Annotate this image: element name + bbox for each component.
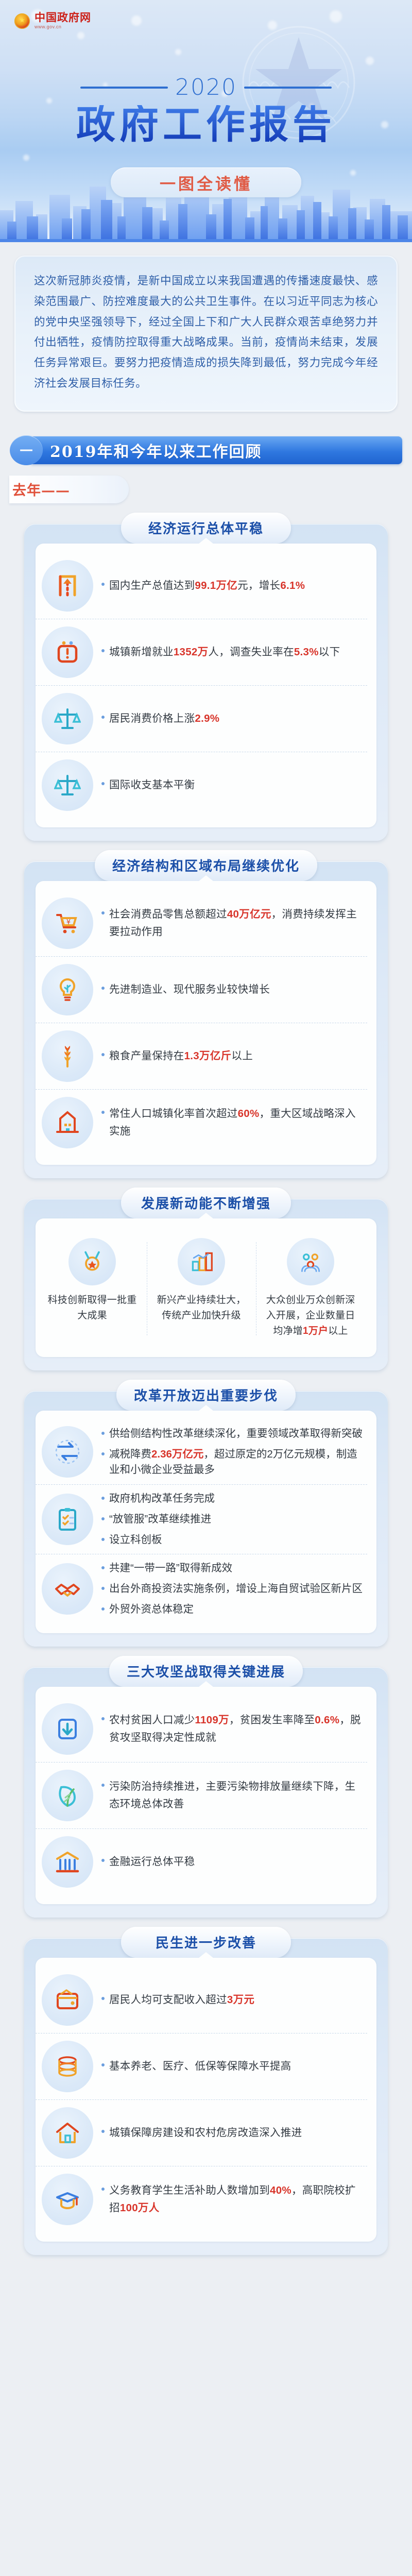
highlight-value: 1109万: [195, 1714, 229, 1726]
section-number-badge: 一: [10, 435, 43, 465]
card-row: 共建“一带一路”取得新成效 出台外商投资法实施条例，增设上海自贸试验区新片区 外…: [36, 1554, 367, 1623]
card-row-text: 共建“一带一路”取得新成效 出台外商投资法实施条例，增设上海自贸试验区新片区 外…: [101, 1561, 363, 1617]
text-fragment: 农村贫困人口减少: [109, 1714, 195, 1726]
card-row-text: 国内生产总值达到99.1万亿元，增长6.1%: [101, 577, 308, 594]
text-fragment: 以上: [328, 1326, 348, 1336]
text-fragment: 粮食产量保持在: [109, 1050, 184, 1062]
highlight-value: 100万人: [120, 2202, 160, 2214]
card-row: 国际收支基本平衡: [36, 752, 367, 818]
row-copy: 先进制造业、现代服务业较快增长: [109, 981, 270, 998]
row-copy: 供给侧结构性改革继续深化，重要领域改革取得新突破: [109, 1426, 363, 1442]
card-row-text: 先进制造业、现代服务业较快增长: [101, 981, 273, 998]
text-fragment: 义务教育学生生活补助人数增加到: [109, 2184, 270, 2196]
house-home-icon: [42, 2107, 93, 2159]
card-title-label: 经济运行总体平稳: [148, 518, 264, 537]
triad-grid: 科技创新取得一批重大成果 新兴产业持续壮大，传统产业加快升级 大众创业万众创新深…: [36, 1228, 367, 1348]
content-card: 改革开放迈出重要步伐 供给侧结构性改革继续深化，重要领域改革取得新突破 减税降费…: [24, 1391, 388, 1647]
infographic-page: 中国政府网 www.gov.cn 2020 政府工作报告 一图全读懂: [0, 0, 412, 2576]
poverty-reduction-down-icon: [42, 1703, 93, 1755]
intro-section: 这次新冠肺炎疫情，是新中国成立以来我国遭遇的传播速度最快、感染范围最广、防控难度…: [0, 242, 412, 427]
card-row-text: 常住人口城镇化率首次超过60%，重大区域战略深入实施: [101, 1105, 367, 1139]
intro-paragraph: 这次新冠肺炎疫情，是新中国成立以来我国遭遇的传播速度最快、感染范围最广、防控难度…: [34, 271, 378, 394]
text-fragment: 先进制造业、现代服务业较快增长: [109, 984, 270, 995]
national-emblem-icon: [14, 13, 30, 29]
list-item: 减税降费2.36万亿元，超过原定的2万亿元规模，制造业和小微企业受益最多: [101, 1447, 367, 1479]
text-fragment: 居民人均可支配收入超过: [109, 1994, 227, 2006]
card-row: 供给侧结构性改革继续深化，重要领域改革取得新突破 减税降费2.36万亿元，超过原…: [36, 1420, 367, 1484]
card-row: 先进制造业、现代服务业较快增长: [36, 956, 367, 1023]
education-book-icon: [42, 2174, 93, 2225]
snow-dot: [350, 170, 356, 176]
card-row: 粮食产量保持在1.3万亿斤以上: [36, 1023, 367, 1089]
balance-scale-icon: [42, 693, 93, 744]
snow-dot: [175, 49, 181, 55]
card-body: 供给侧结构性改革继续深化，重要领域改革取得新突破 减税降费2.36万亿元，超过原…: [36, 1411, 376, 1633]
content-card: 经济运行总体平稳 国内生产总值达到99.1万亿元，增长6.1% 城镇新增就业13…: [24, 524, 388, 841]
highlight-value: 1352万: [174, 646, 209, 658]
intro-card: 这次新冠肺炎疫情，是新中国成立以来我国遭遇的传播速度最快、感染范围最广、防控难度…: [14, 256, 398, 412]
section-title: 2019年和今年以来工作回顾: [50, 439, 262, 462]
highlight-value: 0.6%: [315, 1714, 339, 1726]
row-copy: 居民消费价格上涨2.9%: [109, 710, 219, 727]
coins-stack-icon: [42, 2041, 93, 2092]
text-fragment: 社会消费品零售总额超过: [109, 908, 227, 920]
text-fragment: 人，调查失业率在: [208, 646, 294, 658]
lightbulb-growth-icon: [42, 964, 93, 1015]
snow-dot: [23, 155, 29, 161]
row-copy: 社会消费品零售总额超过40万亿元，消费持续发挥主要拉动作用: [109, 906, 364, 940]
card-row: 常住人口城镇化率首次超过60%，重大区域战略深入实施: [36, 1089, 367, 1156]
bullet-dot: [101, 1452, 105, 1455]
row-copy: 外贸外资总体稳定: [109, 1602, 194, 1618]
list-item: 外贸外资总体稳定: [101, 1602, 363, 1618]
mass-entrepreneurship-icon: [287, 1238, 334, 1285]
content-card: 经济结构和区域布局继续优化 ¥ 社会消费品零售总额超过40万亿元，消费持续发挥主…: [24, 861, 388, 1178]
text-fragment: 共建“一带一路”取得新成效: [109, 1562, 232, 1574]
row-copy: 国际收支基本平衡: [109, 776, 195, 793]
text-fragment: 居民消费价格上涨: [109, 713, 195, 724]
card-row-text: 供给侧结构性改革继续深化，重要领域改革取得新突破 减税降费2.36万亿元，超过原…: [101, 1426, 367, 1478]
svg-text:¥: ¥: [66, 919, 71, 926]
card-row: ¥ 社会消费品零售总额超过40万亿元，消费持续发挥主要拉动作用: [36, 890, 367, 956]
snow-dot: [77, 32, 84, 39]
row-copy: 常住人口城镇化率首次超过60%，重大区域战略深入实施: [109, 1105, 364, 1139]
bullet-dot: [101, 911, 105, 914]
row-copy: 共建“一带一路”取得新成效: [109, 1561, 232, 1577]
content-card: 民生进一步改善 居民人均可支配收入超过3万元 基本养老、医疗、低保等保障水平提高: [24, 1938, 388, 2255]
card-title-label: 三大攻坚战取得关键进展: [127, 1662, 285, 1681]
highlight-value: 2.9%: [195, 713, 219, 724]
row-copy: 出台外商投资法实施条例，增设上海自贸试验区新片区: [109, 1581, 363, 1597]
site-logo[interactable]: 中国政府网 www.gov.cn: [14, 12, 91, 29]
card-row-text: 粮食产量保持在1.3万亿斤以上: [101, 1047, 256, 1064]
highlight-value: 1.3万亿斤: [184, 1050, 232, 1062]
wallet-income-icon: [42, 1974, 93, 2026]
city-urban-icon: [42, 1097, 93, 1148]
text-fragment: 政府机构改革任务完成: [109, 1493, 215, 1504]
site-url: www.gov.cn: [35, 25, 91, 29]
row-copy: 基本养老、医疗、低保等保障水平提高: [109, 2058, 291, 2075]
content-card: 三大攻坚战取得关键进展 农村贫困人口减少1109万，贫困发生率降至0.6%，脱贫…: [24, 1667, 388, 1918]
triad-column: 新兴产业持续壮大，传统产业加快升级: [147, 1238, 256, 1340]
content-card: 发展新动能不断增强 科技创新取得一批重大成果 新兴产业持续壮大，传统产业加快升级…: [24, 1199, 388, 1370]
list-item: 供给侧结构性改革继续深化，重要领域改革取得新突破: [101, 1426, 367, 1442]
card-row: 义务教育学生生活补助人数增加到40%，高职院校扩招100万人: [36, 2166, 367, 2232]
card-row-text: 义务教育学生生活补助人数增加到40%，高职院校扩招100万人: [101, 2182, 367, 2216]
hero-subtitle: 一图全读懂: [160, 171, 252, 194]
list-item: 设立科创板: [101, 1532, 215, 1548]
triad-text: 大众创业万众创新深入开展，企业数量日均净增1万户以上: [262, 1293, 359, 1340]
text-fragment: 国内生产总值达到: [109, 580, 195, 591]
row-copy: “放管服”改革继续推进: [109, 1512, 211, 1528]
highlight-value: 2.36万亿元: [151, 1448, 203, 1460]
text-fragment: 减税降费: [109, 1448, 151, 1460]
bullet-dot: [101, 649, 105, 652]
highlight-value: 5.3%: [294, 646, 319, 658]
card-row: 污染防治持续推进，主要污染物排放量继续下降，生态环境总体改善: [36, 1762, 367, 1828]
balance-scale-icon: [42, 759, 93, 811]
bullet-dot: [101, 1717, 105, 1720]
text-fragment: 国际收支基本平衡: [109, 779, 195, 791]
list-item: 共建“一带一路”取得新成效: [101, 1561, 363, 1577]
highlight-value: 1万户: [303, 1326, 328, 1336]
card-body: 国内生产总值达到99.1万亿元，增长6.1% 城镇新增就业1352万人，调查失业…: [36, 544, 376, 827]
rule-right: [244, 87, 332, 89]
text-fragment: “放管服”改革继续推进: [109, 1513, 211, 1525]
highlight-value: 6.1%: [280, 580, 305, 591]
hero-year: 2020: [175, 76, 237, 99]
text-fragment: 设立科创板: [109, 1534, 162, 1546]
cards-container: 经济运行总体平稳 国内生产总值达到99.1万亿元，增长6.1% 城镇新增就业13…: [0, 524, 412, 2255]
rule-left: [80, 87, 168, 89]
text-fragment: 出台外商投资法实施条例，增设上海自贸试验区新片区: [109, 1583, 363, 1595]
bullet-dot: [101, 782, 105, 785]
text-fragment: 常住人口城镇化率首次超过: [109, 1108, 238, 1120]
bullet-dot: [101, 1432, 105, 1435]
hero-header: 中国政府网 www.gov.cn 2020 政府工作报告 一图全读懂: [0, 0, 412, 242]
text-fragment: 供给侧结构性改革继续深化，重要领域改革取得新突破: [109, 1428, 363, 1439]
row-copy: 粮食产量保持在1.3万亿斤以上: [109, 1047, 253, 1064]
snow-dot: [131, 15, 142, 26]
card-body: 居民人均可支配收入超过3万元 基本养老、医疗、低保等保障水平提高 城镇保障房建设…: [36, 1958, 376, 2242]
card-title-label: 民生进一步改善: [156, 1933, 256, 1952]
triad-text: 科技创新取得一批重大成果: [44, 1293, 141, 1324]
list-item: 政府机构改革任务完成: [101, 1491, 215, 1507]
bullet-dot: [101, 1111, 105, 1114]
card-title-label: 改革开放迈出重要步伐: [134, 1385, 278, 1404]
row-copy: 城镇保障房建设和农村危房改造深入推进: [109, 2124, 302, 2141]
row-copy: 设立科创板: [109, 1532, 162, 1548]
bullet-dot: [101, 1997, 105, 2000]
text-fragment: 新兴产业持续壮大，传统产业加快升级: [157, 1295, 246, 1321]
bank-finance-icon: [42, 1836, 93, 1888]
list-item: “放管服”改革继续推进: [101, 1512, 215, 1528]
card-row-text: 污染防治持续推进，主要污染物排放量继续下降，生态环境总体改善: [101, 1778, 367, 1812]
text-fragment: 金融运行总体平稳: [109, 1856, 195, 1868]
triad-text: 新兴产业持续壮大，传统产业加快升级: [153, 1293, 250, 1324]
hero-subtitle-ribbon: 一图全读懂: [111, 167, 301, 197]
card-row-text: 城镇新增就业1352万人，调查失业率在5.3%以下: [101, 643, 343, 660]
highlight-value: 40万亿元: [227, 908, 271, 920]
card-row-text: 政府机构改革任务完成 “放管服”改革继续推进 设立科创板: [101, 1491, 215, 1548]
text-fragment: 污染防治持续推进，主要污染物排放量继续下降，生态环境总体改善: [109, 1781, 355, 1809]
triad-column: 大众创业万众创新深入开展，企业数量日均净增1万户以上: [256, 1238, 365, 1340]
environment-leaf-icon: [42, 1770, 93, 1821]
card-row-text: 居民人均可支配收入超过3万元: [101, 1991, 257, 2008]
bullet-dot: [101, 1538, 105, 1541]
card-title-label: 发展新动能不断增强: [141, 1193, 271, 1212]
card-row-text: 城镇保障房建设和农村危房改造深入推进: [101, 2124, 305, 2141]
bullet-dot: [101, 1607, 105, 1611]
medal-award-icon: [68, 1238, 116, 1285]
card-body: 科技创新取得一批重大成果 新兴产业持续壮大，传统产业加快升级 大众创业万众创新深…: [36, 1218, 376, 1357]
card-row: 农村贫困人口减少1109万，贫困发生率降至0.6%，脱贫攻坚取得决定性成就: [36, 1696, 367, 1762]
year-tag: 去年——: [9, 476, 129, 503]
bullet-dot: [101, 987, 105, 990]
row-copy: 居民人均可支配收入超过3万元: [109, 1991, 254, 2008]
footer-spacer: [0, 2255, 412, 2286]
section-number: 一: [20, 441, 32, 460]
bullet-dot: [101, 716, 105, 719]
row-copy: 义务教育学生生活补助人数增加到40%，高职院校扩招100万人: [109, 2182, 364, 2216]
card-row: 城镇新增就业1352万人，调查失业率在5.3%以下: [36, 619, 367, 685]
card-body: ¥ 社会消费品零售总额超过40万亿元，消费持续发挥主要拉动作用 先进制造业、现代…: [36, 881, 376, 1165]
bullet-dot: [101, 583, 105, 586]
exchange-reform-icon: [42, 1426, 93, 1478]
up-arrow-icon: [42, 560, 93, 612]
text-fragment: 外贸外资总体稳定: [109, 1603, 194, 1615]
highlight-value: 3万元: [227, 1994, 254, 2006]
row-copy: 金融运行总体平稳: [109, 1853, 195, 1870]
card-row: 基本养老、医疗、低保等保障水平提高: [36, 2033, 367, 2099]
text-fragment: 城镇新增就业: [109, 646, 174, 658]
bullet-dot: [101, 1566, 105, 1569]
bullet-dot: [101, 2188, 105, 2191]
row-copy: 国内生产总值达到99.1万亿元，增长6.1%: [109, 577, 305, 594]
text-fragment: 以上: [231, 1050, 253, 1062]
bullet-dot: [101, 1587, 105, 1590]
card-row-text: 农村贫困人口减少1109万，贫困发生率降至0.6%，脱贫攻坚取得决定性成就: [101, 1711, 367, 1745]
people-employment-icon: [42, 626, 93, 678]
card-row-text: 金融运行总体平稳: [101, 1853, 198, 1870]
industry-upgrade-icon: [178, 1238, 225, 1285]
card-body: 农村贫困人口减少1109万，贫困发生率降至0.6%，脱贫攻坚取得决定性成就 污染…: [36, 1687, 376, 1904]
triad-column: 科技创新取得一批重大成果: [38, 1238, 147, 1340]
card-title-label: 经济结构和区域布局继续优化: [112, 856, 300, 875]
bullet-dot: [101, 1859, 105, 1862]
row-copy: 城镇新增就业1352万人，调查失业率在5.3%以下: [109, 643, 340, 660]
bullet-dot: [101, 1517, 105, 1520]
section-banner: 2019年和今年以来工作回顾 一: [10, 436, 402, 464]
text-fragment: 科技创新取得一批重大成果: [48, 1295, 137, 1321]
row-copy: 政府机构改革任务完成: [109, 1491, 215, 1507]
text-fragment: 元，增长: [237, 580, 280, 591]
card-row-text: 居民消费价格上涨2.9%: [101, 710, 222, 727]
card-row-text: 基本养老、医疗、低保等保障水平提高: [101, 2058, 295, 2075]
card-row: 城镇保障房建设和农村危房改造深入推进: [36, 2099, 367, 2166]
grain-harvest-icon: [42, 1030, 93, 1082]
card-row-text: 社会消费品零售总额超过40万亿元，消费持续发挥主要拉动作用: [101, 906, 367, 940]
text-fragment: ，贫困发生率降至: [229, 1714, 315, 1726]
card-row: 居民消费价格上涨2.9%: [36, 685, 367, 752]
site-name: 中国政府网: [35, 12, 91, 23]
list-item: 出台外商投资法实施条例，增设上海自贸试验区新片区: [101, 1581, 363, 1597]
row-copy: 污染防治持续推进，主要污染物排放量继续下降，生态环境总体改善: [109, 1778, 364, 1812]
bullet-dot: [101, 1053, 105, 1056]
bullet-dot: [101, 1784, 105, 1787]
card-row: 金融运行总体平稳: [36, 1828, 367, 1895]
text-fragment: 城镇保障房建设和农村危房改造深入推进: [109, 2127, 302, 2139]
highlight-value: 40%: [270, 2184, 291, 2196]
bullet-dot: [101, 1497, 105, 1500]
card-row-text: 国际收支基本平衡: [101, 776, 198, 793]
bullet-dot: [101, 2130, 105, 2133]
card-row: 居民人均可支配收入超过3万元: [36, 1967, 367, 2033]
page-title: 政府工作报告: [0, 105, 412, 144]
highlight-value: 99.1万亿: [195, 580, 237, 591]
bullet-dot: [101, 2063, 105, 2066]
highlight-value: 60%: [238, 1108, 260, 1120]
row-copy: 减税降费2.36万亿元，超过原定的2万亿元规模，制造业和小微企业受益最多: [109, 1447, 367, 1479]
hero-year-row: 2020: [0, 76, 412, 99]
shopping-cart-icon: ¥: [42, 897, 93, 949]
text-fragment: 以下: [319, 646, 340, 658]
year-tag-label: 去年——: [12, 479, 70, 499]
section-banner-bar: 2019年和今年以来工作回顾: [29, 436, 402, 464]
checklist-clipboard-icon: [42, 1494, 93, 1545]
row-copy: 农村贫困人口减少1109万，贫困发生率降至0.6%，脱贫攻坚取得决定性成就: [109, 1711, 364, 1745]
text-fragment: 基本养老、医疗、低保等保障水平提高: [109, 2060, 291, 2072]
handshake-icon: [42, 1563, 93, 1615]
card-row: 国内生产总值达到99.1万亿元，增长6.1%: [36, 553, 367, 619]
card-row: 政府机构改革任务完成 “放管服”改革继续推进 设立科创板: [36, 1484, 367, 1554]
